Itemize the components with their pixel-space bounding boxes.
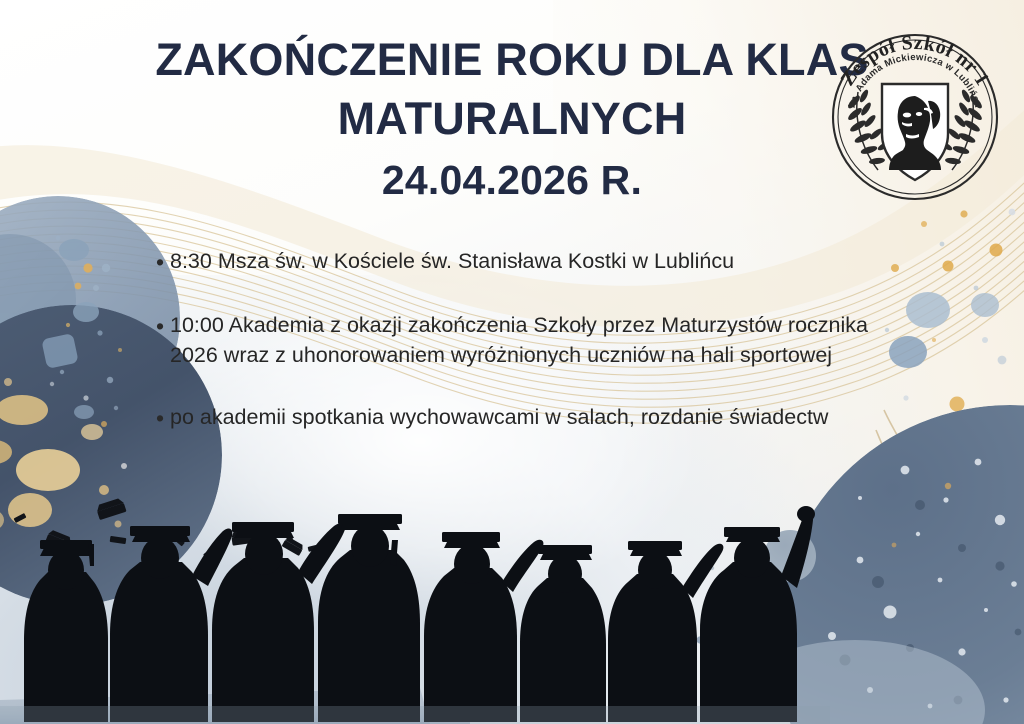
agenda-item-text: 8:30 Msza św. w Kościele św. Stanisława … [170,246,868,277]
agenda-item-text: 10:00 Akademia z okazji zakończenia Szko… [170,310,868,371]
agenda-item-3: • po akademii spotkania wychowawcami w s… [156,402,868,435]
agenda-list: • 8:30 Msza św. w Kościele św. Stanisław… [156,246,868,434]
agenda-item-2: • 10:00 Akademia z okazji zakończenia Sz… [156,310,868,371]
poster-canvas: ZAKOŃCZENIE ROKU DLA KLAS MATURALNYCH 24… [0,0,1024,724]
bullet-marker: • [156,402,170,435]
bullet-marker: • [156,310,170,343]
agenda-item-1: • 8:30 Msza św. w Kościele św. Stanisław… [156,246,868,279]
bullet-marker: • [156,246,170,279]
school-crest-logo: Zespół Szkół nr 1 im. Adama Mickiewicza … [820,22,1010,202]
agenda-item-text: po akademii spotkania wychowawcami w sal… [170,402,868,433]
